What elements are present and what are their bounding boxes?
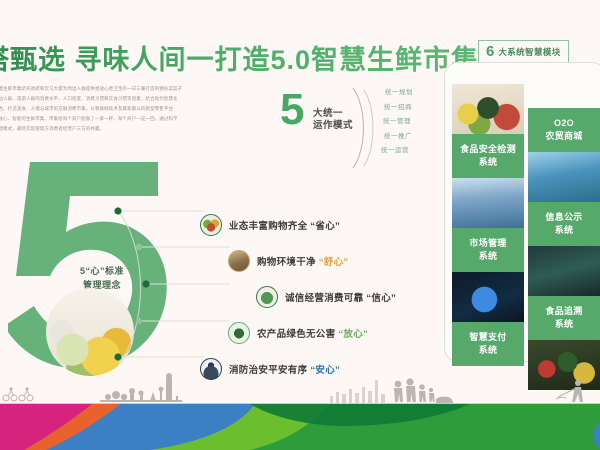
module-thumbnail — [528, 152, 600, 202]
list-item: 购物环境干净 “舒心” — [228, 250, 348, 272]
list-item-label: 诚信经营消费可靠 “信心” — [285, 290, 396, 304]
handshake-trust-icon — [256, 286, 278, 308]
list-item-label: 业态丰富购物齐全 “省心” — [229, 218, 340, 232]
intro-line: 智慧生鲜市集结托政府和饮马大厦为周边人群提供更放心更卫生的一日三餐打造的便民菜篮… — [0, 84, 244, 93]
city-silhouette — [0, 370, 600, 406]
module-tile-food-safety[interactable]: 食品安全检测 系统 — [452, 134, 524, 178]
unified-mode-item: 统一招商 — [373, 101, 423, 116]
module-thumbnail — [452, 84, 524, 134]
unified-modes-label-line1: 大统一 — [313, 108, 353, 120]
smart-modules-title: 大系统智慧模块 — [498, 46, 560, 58]
list-item-keyword: “放心” — [338, 329, 368, 340]
unified-modes-number: 5 — [280, 88, 304, 132]
connector-dot — [114, 207, 121, 214]
unified-mode-item: 统一运营 — [367, 144, 423, 159]
connector-dot — [136, 318, 142, 324]
intro-line: 周边人群、旅游人群的消费水平、人口密度、消费习惯和饮食习惯等因素，结合现代智慧化 — [0, 94, 244, 103]
smart-modules-panel-header: 6 大系统智慧模块 — [478, 40, 569, 62]
list-item: 业态丰富购物齐全 “省心” — [200, 214, 340, 236]
smart-modules-grid: 食品安全检测 系统 市场管理 系统 智慧支付 系统 O2O 农贸商城 信息公示 … — [452, 84, 600, 356]
bottom-color-band — [0, 404, 600, 450]
unified-modes-label-line2: 运作模式 — [313, 120, 353, 132]
intro-line: 、放心、智能的生鲜市集，市集给每个商户配备了一屏一秤，每个商户一证一回，通过科学 — [0, 114, 244, 123]
module-tile-market-management[interactable]: 市场管理 系统 — [452, 228, 524, 272]
five-hearts-list: 业态丰富购物齐全 “省心” 购物环境干净 “舒心” 诚信经营消费可靠 “信心” … — [200, 212, 440, 367]
module-tile-food-traceability[interactable]: 食品追溯 系统 — [528, 296, 600, 340]
unified-modes-block: 5 大统一 运作模式 统一规划 统一招商 统一管理 统一推广 统一运营 — [275, 82, 430, 172]
unified-modes-label: 大统一 运作模式 — [313, 108, 353, 132]
module-thumbnail — [528, 246, 600, 296]
intro-line: 管理模式，最终实现管理方消费者经营户三方的共赢。 — [0, 124, 244, 133]
connector-dot — [136, 244, 142, 250]
module-thumbnail — [452, 178, 524, 228]
list-item: 诚信经营消费可靠 “信心” — [256, 286, 396, 308]
module-tile-info-disclosure[interactable]: 信息公示 系统 — [528, 202, 600, 246]
page-title: 塔甄选 寻味人间一打造5.0智慧生鲜市集 — [0, 38, 479, 77]
module-thumbnail — [452, 272, 524, 322]
unified-mode-item: 统一推广 — [373, 130, 423, 145]
unified-modes-list: 统一规划 统一招商 统一管理 统一推广 统一运营 — [371, 86, 423, 159]
list-item: 农产品绿色无公害 “放心” — [228, 322, 368, 344]
green-produce-icon — [228, 322, 250, 344]
modules-column-right: O2O 农贸商城 信息公示 系统 食品追溯 系统 — [528, 108, 600, 390]
smart-modules-count: 6 — [486, 44, 494, 59]
unified-mode-item: 统一规划 — [375, 86, 423, 101]
unified-mode-item: 统一管理 — [371, 115, 423, 130]
list-item-keyword: “省心” — [310, 221, 340, 232]
modules-column-left: 食品安全检测 系统 市场管理 系统 智慧支付 系统 — [452, 84, 524, 366]
list-item-keyword: “信心” — [366, 293, 396, 304]
module-tile-o2o-mall[interactable]: O2O 农贸商城 — [528, 108, 600, 152]
vegetable-basket-icon — [200, 214, 222, 236]
intro-paragraph: 智慧生鲜市集结托政府和饮马大厦为周边人群提供更放心更卫生的一日三餐打造的便民菜篮… — [0, 84, 244, 134]
intro-line: 特色、打造美食、人情与城市的交融消费市集，以物联网技术及最新最以的新型零售平台 — [0, 104, 244, 113]
connector-dot — [142, 280, 149, 287]
clean-market-icon — [228, 250, 250, 272]
module-tile-smart-payment[interactable]: 智慧支付 系统 — [452, 322, 524, 366]
list-item-keyword: “舒心” — [319, 257, 349, 268]
list-item-label: 农产品绿色无公害 “放心” — [257, 326, 368, 340]
list-item-label: 购物环境干净 “舒心” — [257, 254, 348, 268]
connector-dot — [114, 353, 121, 360]
